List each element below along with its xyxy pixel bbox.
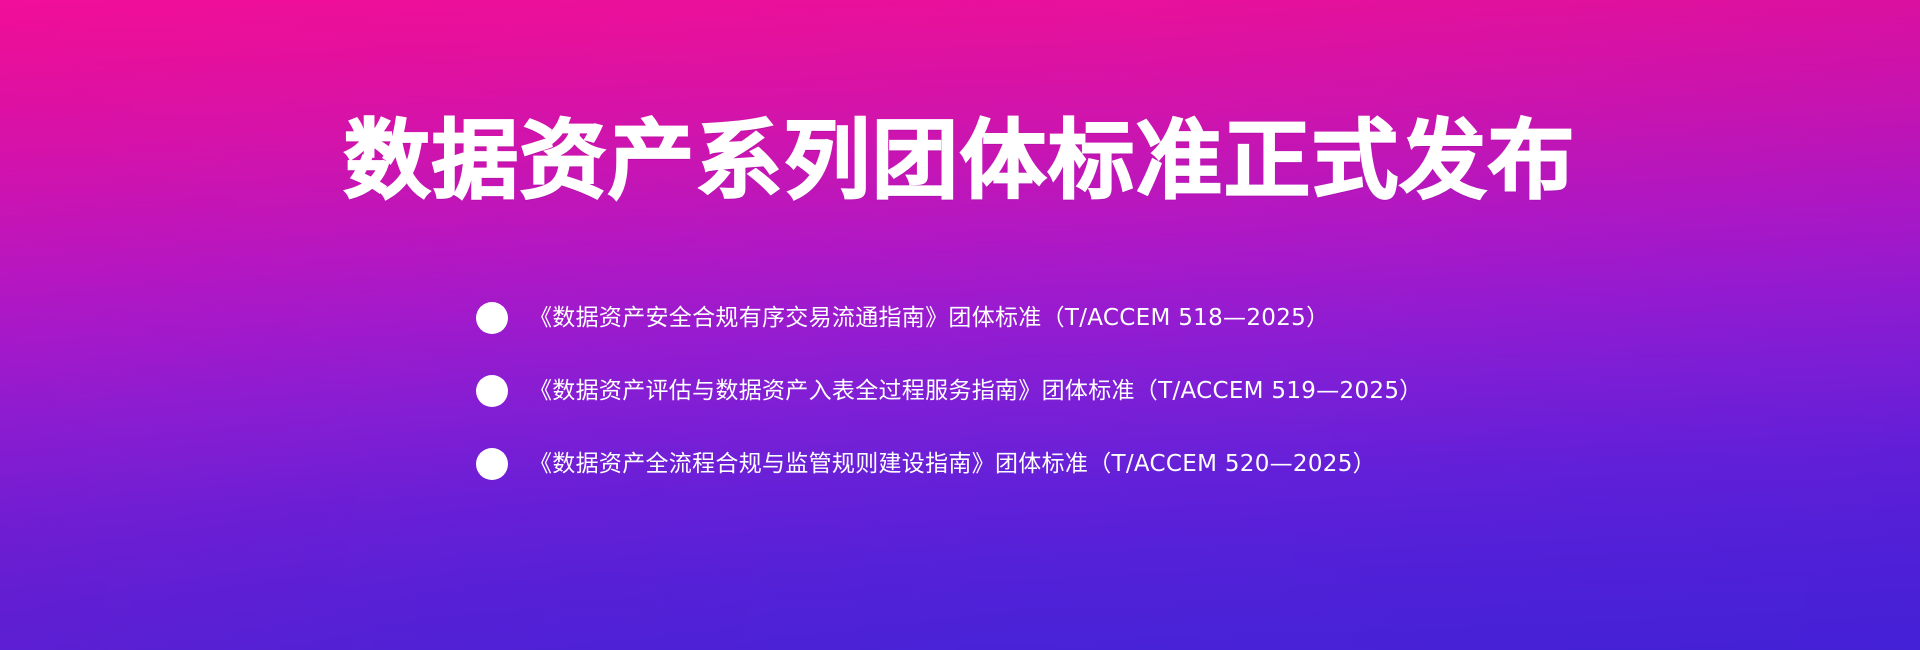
banner-content: 数据资产系列团体标准正式发布 《数据资产安全合规有序交易流通指南》团体标准（T/… (0, 0, 1920, 650)
banner-title: 数据资产系列团体标准正式发布 (0, 118, 1920, 204)
bullet-dot-icon (476, 302, 508, 334)
list-item: 《数据资产安全合规有序交易流通指南》团体标准（T/ACCEM 518—2025） (476, 300, 1423, 336)
list-item: 《数据资产全流程合规与监管规则建设指南》团体标准（T/ACCEM 520—202… (476, 446, 1423, 482)
standard-title-1: 《数据资产评估与数据资产入表全过程服务指南》团体标准（T/ACCEM 519—2… (529, 374, 1423, 408)
list-item: 《数据资产评估与数据资产入表全过程服务指南》团体标准（T/ACCEM 519—2… (476, 373, 1423, 409)
bullet-dot-icon (476, 448, 508, 480)
standard-title-2: 《数据资产全流程合规与监管规则建设指南》团体标准（T/ACCEM 520—202… (529, 447, 1376, 481)
promo-banner: 数据资产系列团体标准正式发布 《数据资产安全合规有序交易流通指南》团体标准（T/… (0, 0, 1920, 650)
bullet-dot-icon (476, 375, 508, 407)
standard-title-0: 《数据资产安全合规有序交易流通指南》团体标准（T/ACCEM 518—2025） (529, 301, 1329, 335)
standards-list: 《数据资产安全合规有序交易流通指南》团体标准（T/ACCEM 518—2025）… (476, 300, 1423, 482)
